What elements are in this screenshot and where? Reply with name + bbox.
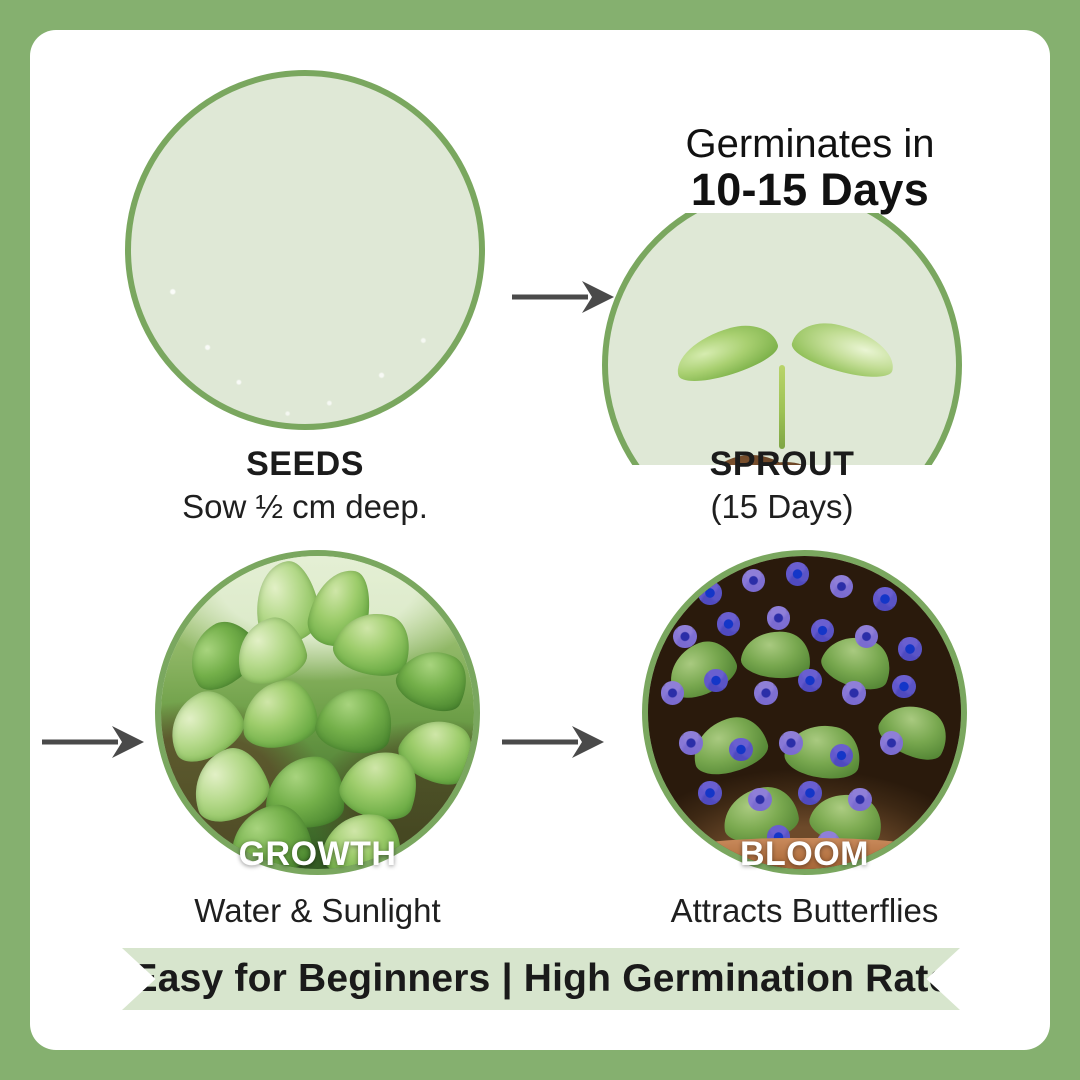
green-leafy-plant-photo: [161, 556, 474, 869]
arrow-sprout-to-growth: [40, 720, 150, 764]
infographic-card: Germinates in 10-15 Days SEEDS Sow ½ cm …: [30, 30, 1050, 1050]
ribbon-text: Easy for Beginners | High Germination Ra…: [132, 957, 951, 1001]
arrow-growth-to-bloom: [500, 720, 610, 764]
step-title-bloom: BLOOM: [642, 835, 967, 874]
step-image-seeds: [125, 70, 485, 430]
step-subtitle-growth: Water & Sunlight: [135, 892, 500, 930]
blue-violet-flowers-photo: [648, 556, 961, 869]
arrow-seeds-to-sprout: [510, 275, 620, 319]
step-subtitle-seeds: Sow ½ cm deep.: [105, 488, 505, 526]
germination-heading-line1: Germinates in: [650, 122, 970, 167]
step-image-growth: [155, 550, 480, 875]
hand-sowing-seeds-photo: [131, 76, 479, 424]
step-title-growth: GROWTH: [155, 835, 480, 874]
seedling-sprout-photo: [608, 191, 956, 539]
step-image-bloom: [642, 550, 967, 875]
step-subtitle-bloom: Attracts Butterflies: [622, 892, 987, 930]
germination-heading-line2: 10-15 Days: [650, 164, 970, 216]
bottom-ribbon-banner: Easy for Beginners | High Germination Ra…: [122, 948, 960, 1010]
step-title-sprout: SPROUT: [602, 445, 962, 484]
step-title-seeds: SEEDS: [125, 445, 485, 484]
step-subtitle-sprout: (15 Days): [602, 488, 962, 526]
